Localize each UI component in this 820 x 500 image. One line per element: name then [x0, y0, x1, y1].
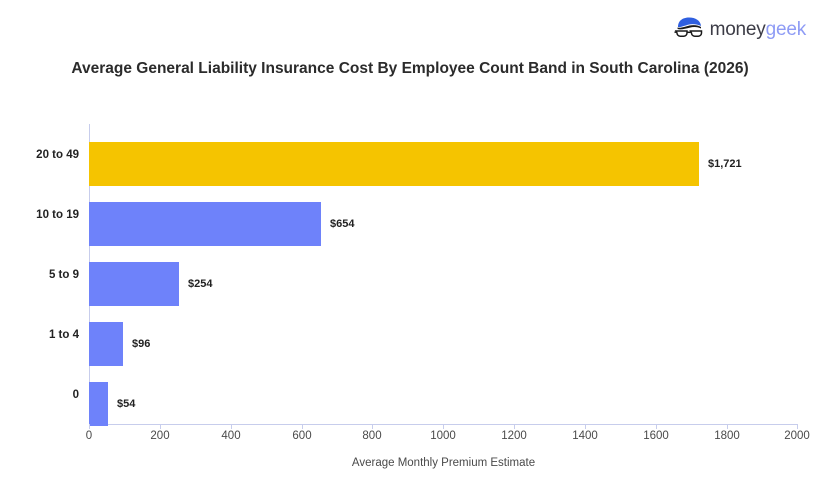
plot-area: $1,721 $654 $254 $96 $54 0 20 — [89, 124, 798, 424]
x-tick-0 — [89, 424, 90, 429]
logo-word-geek: geek — [766, 19, 806, 40]
x-tick-label-1200: 1200 — [484, 431, 544, 443]
x-tick-label-2000: 2000 — [767, 431, 820, 443]
x-tick-600 — [302, 424, 303, 429]
bar-row-1-to-4: $96 — [89, 314, 798, 374]
x-tick-label-200: 200 — [130, 431, 190, 443]
x-tick-1000 — [443, 424, 444, 429]
bar-value-20-to-49: $1,721 — [708, 158, 742, 170]
bar-value-10-to-19: $654 — [330, 218, 354, 230]
bar-value-5-to-9: $254 — [188, 278, 212, 290]
x-tick-label-1400: 1400 — [555, 431, 615, 443]
x-tick-1600 — [656, 424, 657, 429]
logo-wordmark: moneygeek — [710, 20, 806, 39]
bar-10-to-19[interactable] — [89, 202, 321, 246]
chart-title: Average General Liability Insurance Cost… — [40, 58, 780, 80]
bar-value-1-to-4: $96 — [132, 338, 150, 350]
bar-row-20-to-49: $1,721 — [89, 134, 798, 194]
bar-1-to-4[interactable] — [89, 322, 123, 366]
x-tick-400 — [231, 424, 232, 429]
x-tick-1200 — [514, 424, 515, 429]
bar-row-10-to-19: $654 — [89, 194, 798, 254]
x-tick-2000 — [797, 424, 798, 429]
y-axis-label-1-to-4: 1 to 4 — [0, 330, 79, 342]
y-axis-label-20-to-49: 20 to 49 — [0, 150, 79, 162]
x-tick-1400 — [585, 424, 586, 429]
x-tick-label-400: 400 — [201, 431, 261, 443]
x-tick-1800 — [727, 424, 728, 429]
moneygeek-logo: moneygeek — [674, 14, 806, 44]
x-tick-label-800: 800 — [342, 431, 402, 443]
bar-5-to-9[interactable] — [89, 262, 179, 306]
x-tick-label-1600: 1600 — [626, 431, 686, 443]
bar-value-0: $54 — [117, 398, 135, 410]
moneygeek-face-icon — [674, 16, 704, 42]
x-tick-label-0: 0 — [59, 431, 119, 443]
x-tick-label-600: 600 — [272, 431, 332, 443]
x-tick-label-1800: 1800 — [697, 431, 757, 443]
chart-page: moneygeek Average General Liability Insu… — [0, 0, 820, 500]
logo-word-money: money — [710, 19, 766, 40]
x-axis-title: Average Monthly Premium Estimate — [89, 457, 798, 469]
bar-20-to-49[interactable] — [89, 142, 699, 186]
y-axis-label-10-to-19: 10 to 19 — [0, 210, 79, 222]
x-tick-200 — [160, 424, 161, 429]
x-tick-label-1000: 1000 — [413, 431, 473, 443]
y-axis-label-5-to-9: 5 to 9 — [0, 270, 79, 282]
bar-0[interactable] — [89, 382, 108, 426]
y-axis-label-0: 0 — [0, 390, 79, 402]
bar-row-5-to-9: $254 — [89, 254, 798, 314]
x-tick-800 — [372, 424, 373, 429]
